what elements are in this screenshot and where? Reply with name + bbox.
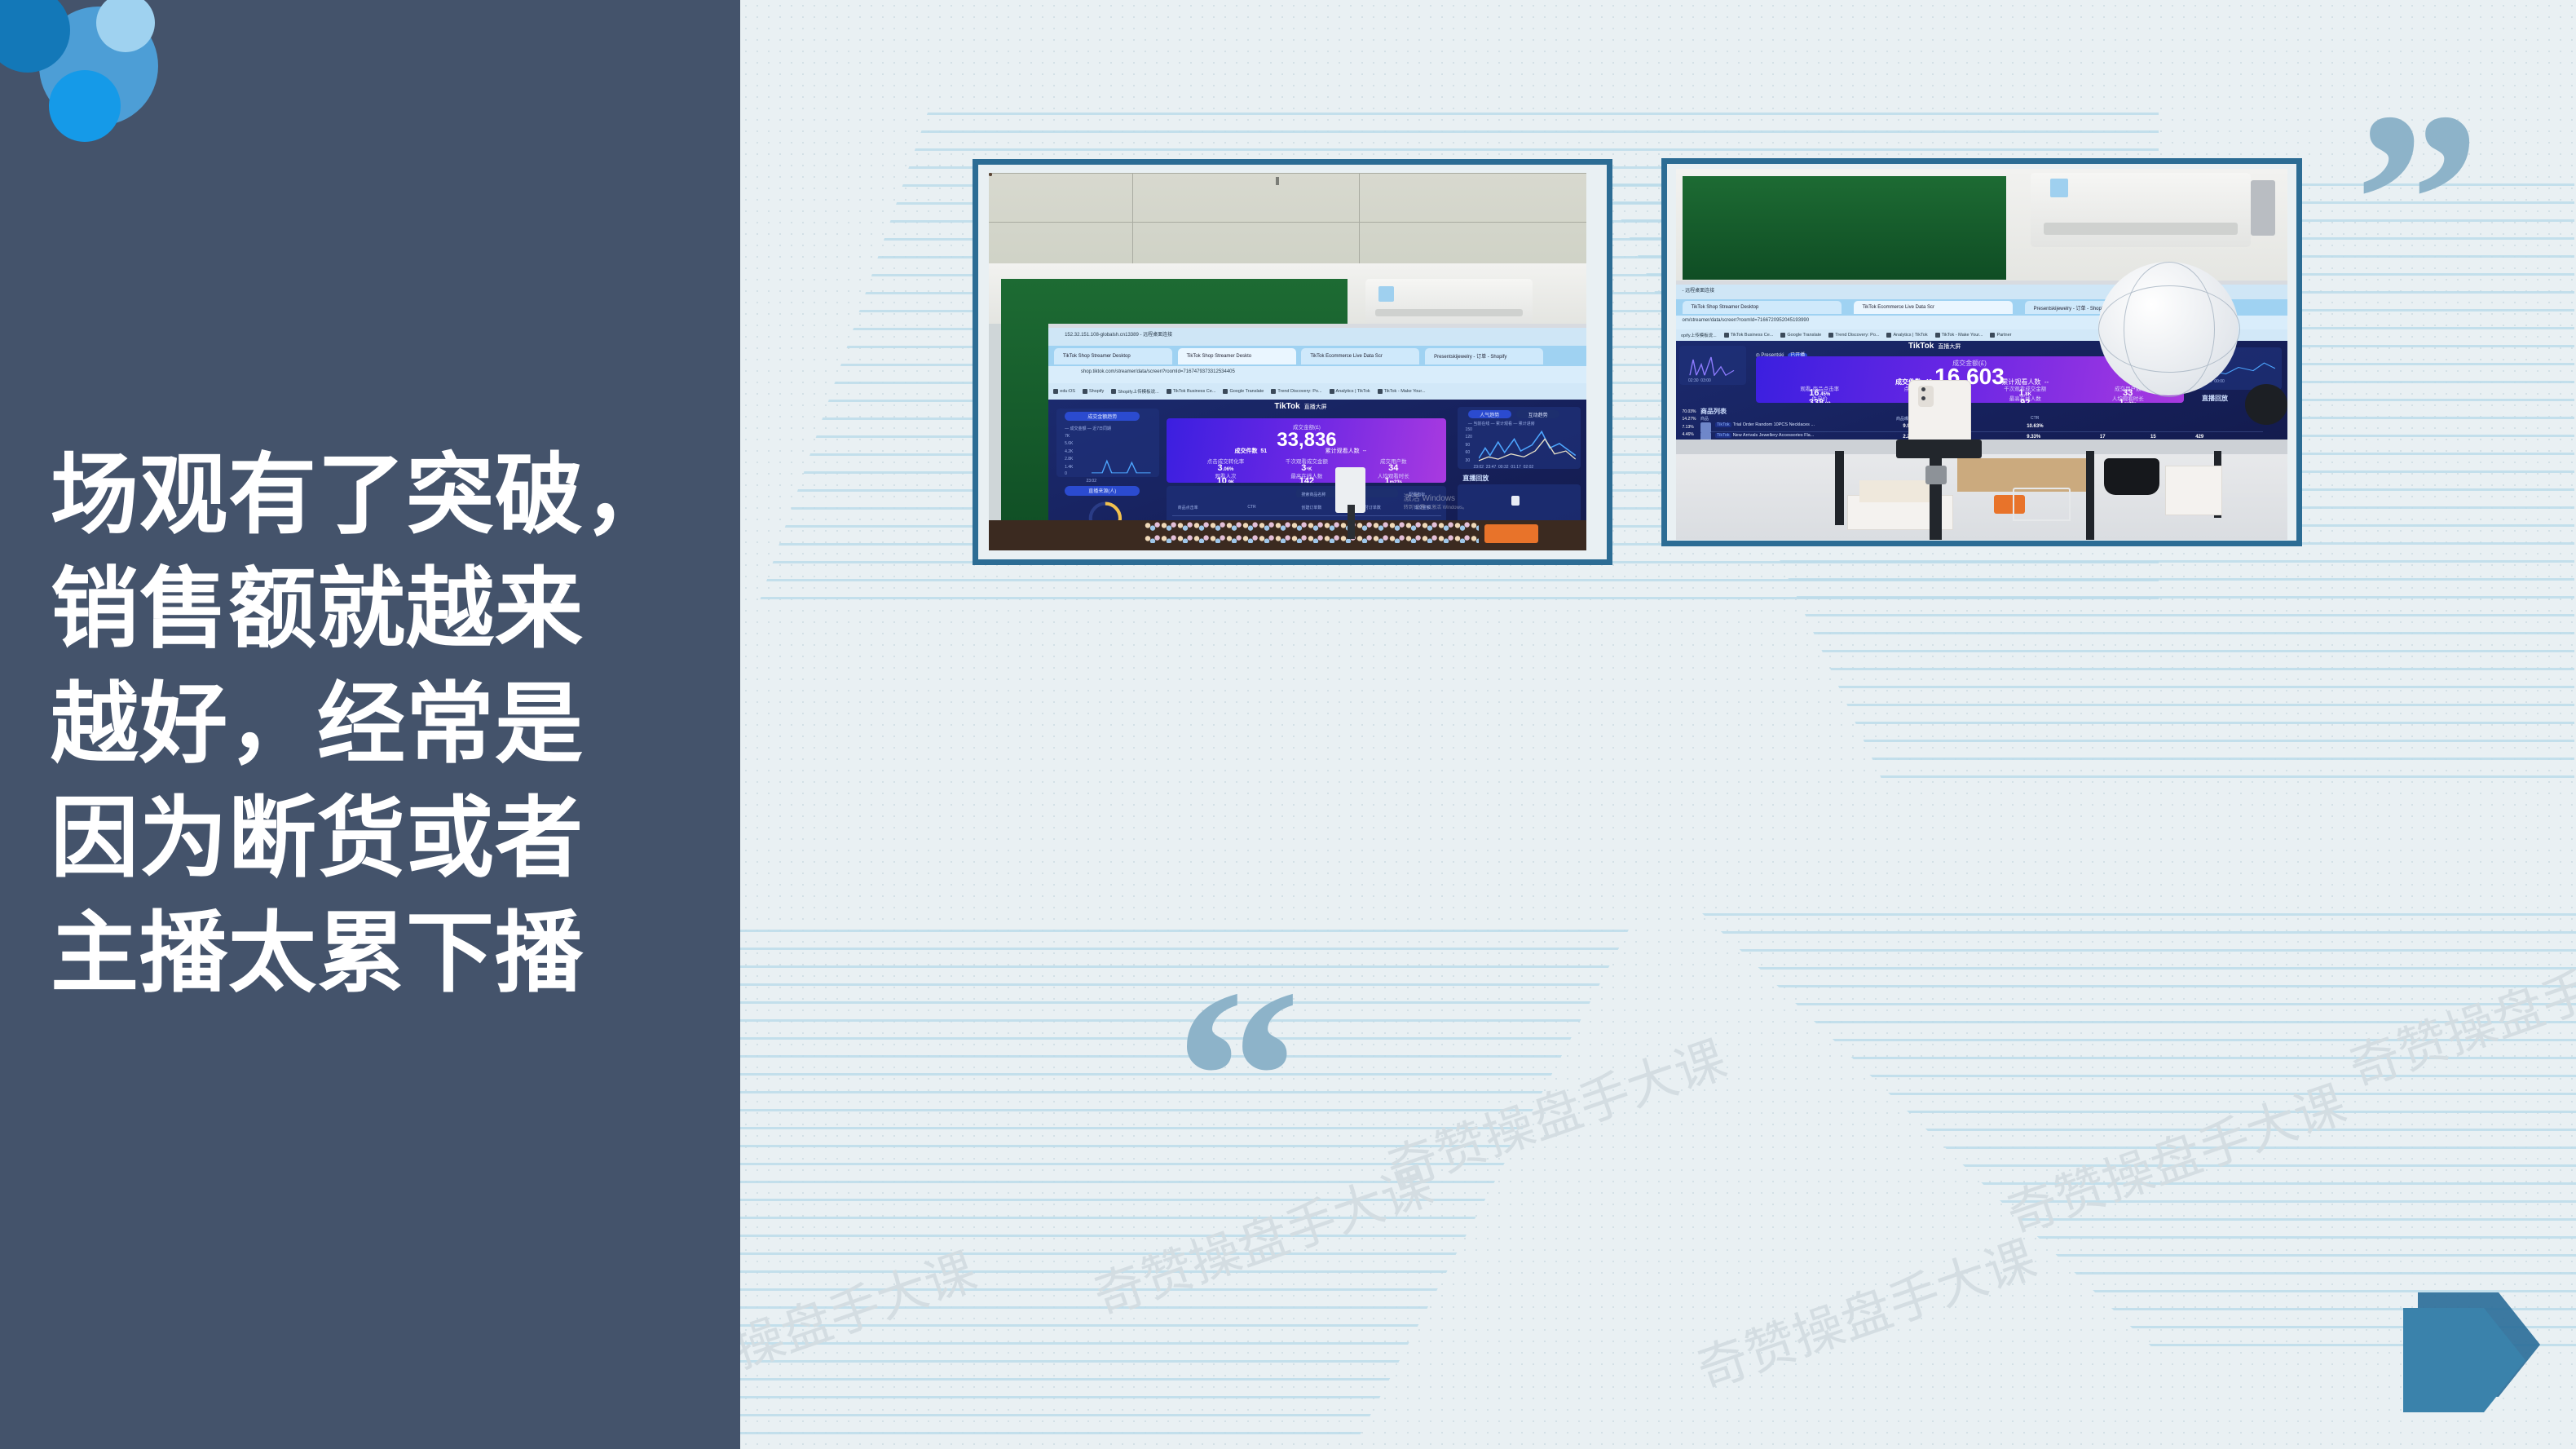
- y-tick-5: 0: [1065, 471, 1067, 476]
- logo-circle-bright: [49, 70, 121, 142]
- monitor-screen: 152.32.151.108-globalsh.cn13389 - 远程桌面连接…: [1048, 324, 1586, 550]
- pct-0: 70.03%: [1683, 409, 1696, 414]
- tripod-pole-1: [1348, 505, 1355, 539]
- bookmark2-6[interactable]: Partner: [1990, 333, 2011, 338]
- bookmark-2[interactable]: Shopify上传模板说...: [1111, 388, 1158, 395]
- kpi-hero-1: 成交金额(£) 33,836 成交件数 51 累计观看人数 -- 点击成交转化率…: [1167, 418, 1446, 484]
- pct-3: 4.46%: [1683, 432, 1694, 437]
- y-tick-3: 2.8K: [1065, 457, 1073, 462]
- bookmark2-0[interactable]: opify上传模板说...: [1681, 332, 1717, 338]
- ceiling-sensor: [1276, 177, 1279, 185]
- browser-tabrow: TikTok Shop Streamer Desktop TikTok Shop…: [1048, 346, 1586, 366]
- product-c5-1: 15: [2150, 435, 2156, 440]
- windows-watermark-1: 激活 Windows 转到"设置"以激活 Windows。: [1404, 493, 1467, 512]
- wall-cable: [2251, 180, 2275, 236]
- beige-block: [1859, 480, 1933, 502]
- product-c6-1: 429: [2195, 435, 2203, 440]
- kpi-sub-1: 累计观看人数 --: [1299, 447, 1394, 455]
- browser-titlebar: 152.32.151.108-globalsh.cn13389 - 远程桌面连接: [1048, 328, 1586, 346]
- browser-tab2-1[interactable]: TikTok Ecommerce Live Data Scr: [1854, 301, 2013, 314]
- glasses-right: [989, 173, 992, 176]
- left-sidebar: 场观有了突破， 销售额就越来 越好，经常是 因为断货或者 主播太累下播: [0, 0, 740, 1449]
- source-panel-title: 直播来源(人): [1065, 486, 1140, 495]
- black-bag: [2104, 458, 2159, 496]
- browser-tab-3[interactable]: Presentskijewelry - 订单 - Shopify: [1425, 348, 1543, 365]
- qizan-logo: [0, 0, 212, 173]
- y-tick-4: 1.4K: [1065, 465, 1073, 470]
- x-tick-0: 23:02: [1086, 479, 1096, 484]
- y-tick-0: 7K: [1065, 434, 1070, 439]
- search-placeholder-1: 搜索商品名称: [1301, 492, 1325, 497]
- replay-title-2: 直播回放: [2202, 394, 2228, 403]
- y-tick-1: 5.6K: [1065, 441, 1073, 446]
- url-text: shop.tiktok.com/streamer/data/screen?roo…: [1081, 369, 1235, 374]
- replay-title-1: 直播回放: [1462, 474, 1489, 483]
- bookmark-4[interactable]: Google Translate: [1223, 389, 1264, 394]
- browser-urlbar[interactable]: shop.tiktok.com/streamer/data/screen?roo…: [1048, 366, 1586, 383]
- m2-value-6: 92: [1978, 398, 2073, 403]
- bookmark2-2[interactable]: Google Translate: [1780, 333, 1821, 338]
- browser-tab-2[interactable]: TikTok Ecommerce Live Data Scr: [1301, 348, 1419, 365]
- headline-quote: 场观有了突破， 销售额就越来 越好，经常是 因为断货或者 主播太累下播: [51, 438, 695, 1010]
- headline-line-1: 场观有了突破，: [51, 438, 695, 552]
- photo-studio-setup[interactable]: - 远程桌面连接 TikTok Shop Streamer Desktop Ti…: [1676, 169, 2287, 540]
- kpi-sub-0: 成交件数 51: [1215, 447, 1287, 455]
- bookmarks-bar[interactable]: edu:OS Shopify Shopify上传模板说... TikTok Bu…: [1048, 383, 1586, 399]
- green-screen-2: [1683, 176, 2007, 280]
- headline-line-4: 因为断货或者: [51, 781, 695, 895]
- product-list-title: 商品列表: [1700, 407, 1727, 416]
- popularity-tab[interactable]: 人气趋势: [1468, 410, 1511, 418]
- slide-root: 场观有了突破， 销售额就越来 越好，经常是 因为断货或者 主播太累下播 奇赞操盘…: [0, 0, 2576, 1449]
- trend-legend: — 成交金额 — 近7日同期: [1065, 426, 1111, 431]
- desk-leg-1: [1835, 451, 1844, 525]
- headline-line-2: 销售额就越来: [51, 552, 695, 666]
- th-0: 商品点击率: [1178, 505, 1198, 510]
- interaction-tab[interactable]: 互动趋势: [1516, 410, 1559, 418]
- pct-1: 14.27%: [1683, 417, 1696, 422]
- orange-object: [1484, 524, 1538, 543]
- opening-quote-mark: “: [1175, 952, 1301, 1204]
- tiktok-logo-2: TikTok 直播大屏: [1908, 342, 1961, 351]
- bookmark2-5[interactable]: TikTok - Make Your...: [1935, 333, 1983, 338]
- left-rail-chart: [1688, 352, 1737, 377]
- air-conditioner-icon-2: [2031, 173, 2251, 247]
- desk-edge: [1676, 440, 2287, 454]
- popularity-line-chart: [1479, 426, 1576, 463]
- tiktok-brand: TikTok: [1274, 402, 1299, 411]
- bookmark-1[interactable]: Shopify: [1083, 389, 1104, 394]
- headline-line-5: 主播太累下播: [51, 896, 695, 1010]
- wooden-shelf: [1957, 458, 2092, 492]
- col-ctr: CTR: [2031, 416, 2039, 421]
- product-ctr-0: 10.63%: [2027, 424, 2043, 429]
- pct-2: 7.13%: [1683, 425, 1694, 430]
- softbox-light: [2098, 262, 2239, 395]
- photo-live-host[interactable]: 152.32.151.108-globalsh.cn13389 - 远程桌面连接…: [989, 173, 1586, 550]
- product-name-0: TikTokTrial Order Random 10PCS Necklaces…: [1715, 422, 2041, 428]
- closing-quote-mark: ”: [2354, 75, 2481, 328]
- bookmark2-4[interactable]: Analytics | TikTok: [1886, 333, 1927, 338]
- m2-value-4: 338.83: [1773, 398, 1868, 403]
- bookmark-6[interactable]: Analytics | TikTok: [1330, 389, 1370, 394]
- m2-value-7: 1m28s: [2081, 398, 2176, 403]
- th-1: CTR: [1247, 505, 1255, 510]
- r-y-0: 150: [1466, 427, 1472, 432]
- white-box-right: [2165, 466, 2222, 515]
- dashboard-title-2: 直播大屏: [1938, 342, 1961, 351]
- url-text-2: om/streamer/data/screen?roomId=716672095…: [1683, 318, 1810, 323]
- browser-tab-1[interactable]: TikTok Shop Streamer Deskto: [1178, 348, 1296, 365]
- product-ctr-1: 9.33%: [2027, 435, 2040, 440]
- metric-value-5: 142: [1270, 476, 1343, 483]
- headline-line-3: 越好，经常是: [51, 667, 695, 781]
- camera-lens: [2245, 384, 2288, 425]
- wire-rack: [2013, 488, 2071, 520]
- content-canvas: 奇赞操盘手大课 奇赞操盘手大课 奇赞操盘手大课 奇赞操盘手大课 奇赞操盘手大课 …: [740, 0, 2576, 1449]
- dashboard-title: 直播大屏: [1304, 403, 1327, 411]
- phone-on-tripod: [1908, 380, 1971, 444]
- bead-pile: [1145, 520, 1479, 543]
- bookmark-0[interactable]: edu:OS: [1053, 389, 1075, 394]
- window-title-2: - 远程桌面连接: [1683, 286, 1715, 294]
- desk-leg-2: [2086, 451, 2095, 540]
- phone-clamp: [1896, 440, 1982, 458]
- tripod-joint: [1925, 466, 1947, 484]
- r-y-4: 30: [1466, 458, 1471, 463]
- metric-value-4: 10.9K: [1189, 476, 1262, 483]
- product-name-1: TikTokNew Arrivals Jewellery Accessories…: [1715, 432, 2041, 439]
- y-tick-2: 4.2K: [1065, 449, 1073, 454]
- trend-sparkline: [1092, 457, 1151, 474]
- r-y-2: 90: [1466, 443, 1471, 448]
- bookmark-3[interactable]: TikTok Business Ce...: [1167, 389, 1216, 394]
- tiktok-logo: TikTok 直播大屏: [1274, 402, 1326, 411]
- tiktok-brand-2: TikTok: [1908, 342, 1934, 351]
- replay-thumb: [1511, 496, 1520, 506]
- bookmark2-1[interactable]: TikTok Business Ce...: [1724, 333, 1774, 338]
- product-c4-1: 17: [2100, 435, 2106, 440]
- trend-panel-title: 成交金额趋势: [1065, 412, 1140, 421]
- r-y-3: 60: [1466, 450, 1471, 455]
- th-2: 创建订单数: [1301, 505, 1321, 510]
- phone-camera-icon: [1918, 386, 1934, 407]
- bookmark-5[interactable]: Trend Discovery: Po...: [1271, 389, 1321, 394]
- browser-tab2-0[interactable]: TikTok Shop Streamer Desktop: [1683, 301, 1842, 314]
- bookmark2-3[interactable]: Trend Discovery: Po...: [1828, 333, 1879, 338]
- metric-value-6: 1m23s: [1357, 476, 1430, 483]
- air-conditioner-icon: [1365, 279, 1533, 325]
- window-title: 152.32.151.108-globalsh.cn13389 - 远程桌面连接: [1065, 330, 1172, 338]
- browser-tab-0[interactable]: TikTok Shop Streamer Desktop: [1054, 348, 1172, 365]
- bookmark-7[interactable]: TikTok - Make Your...: [1378, 389, 1426, 394]
- r-y-1: 120: [1466, 435, 1472, 440]
